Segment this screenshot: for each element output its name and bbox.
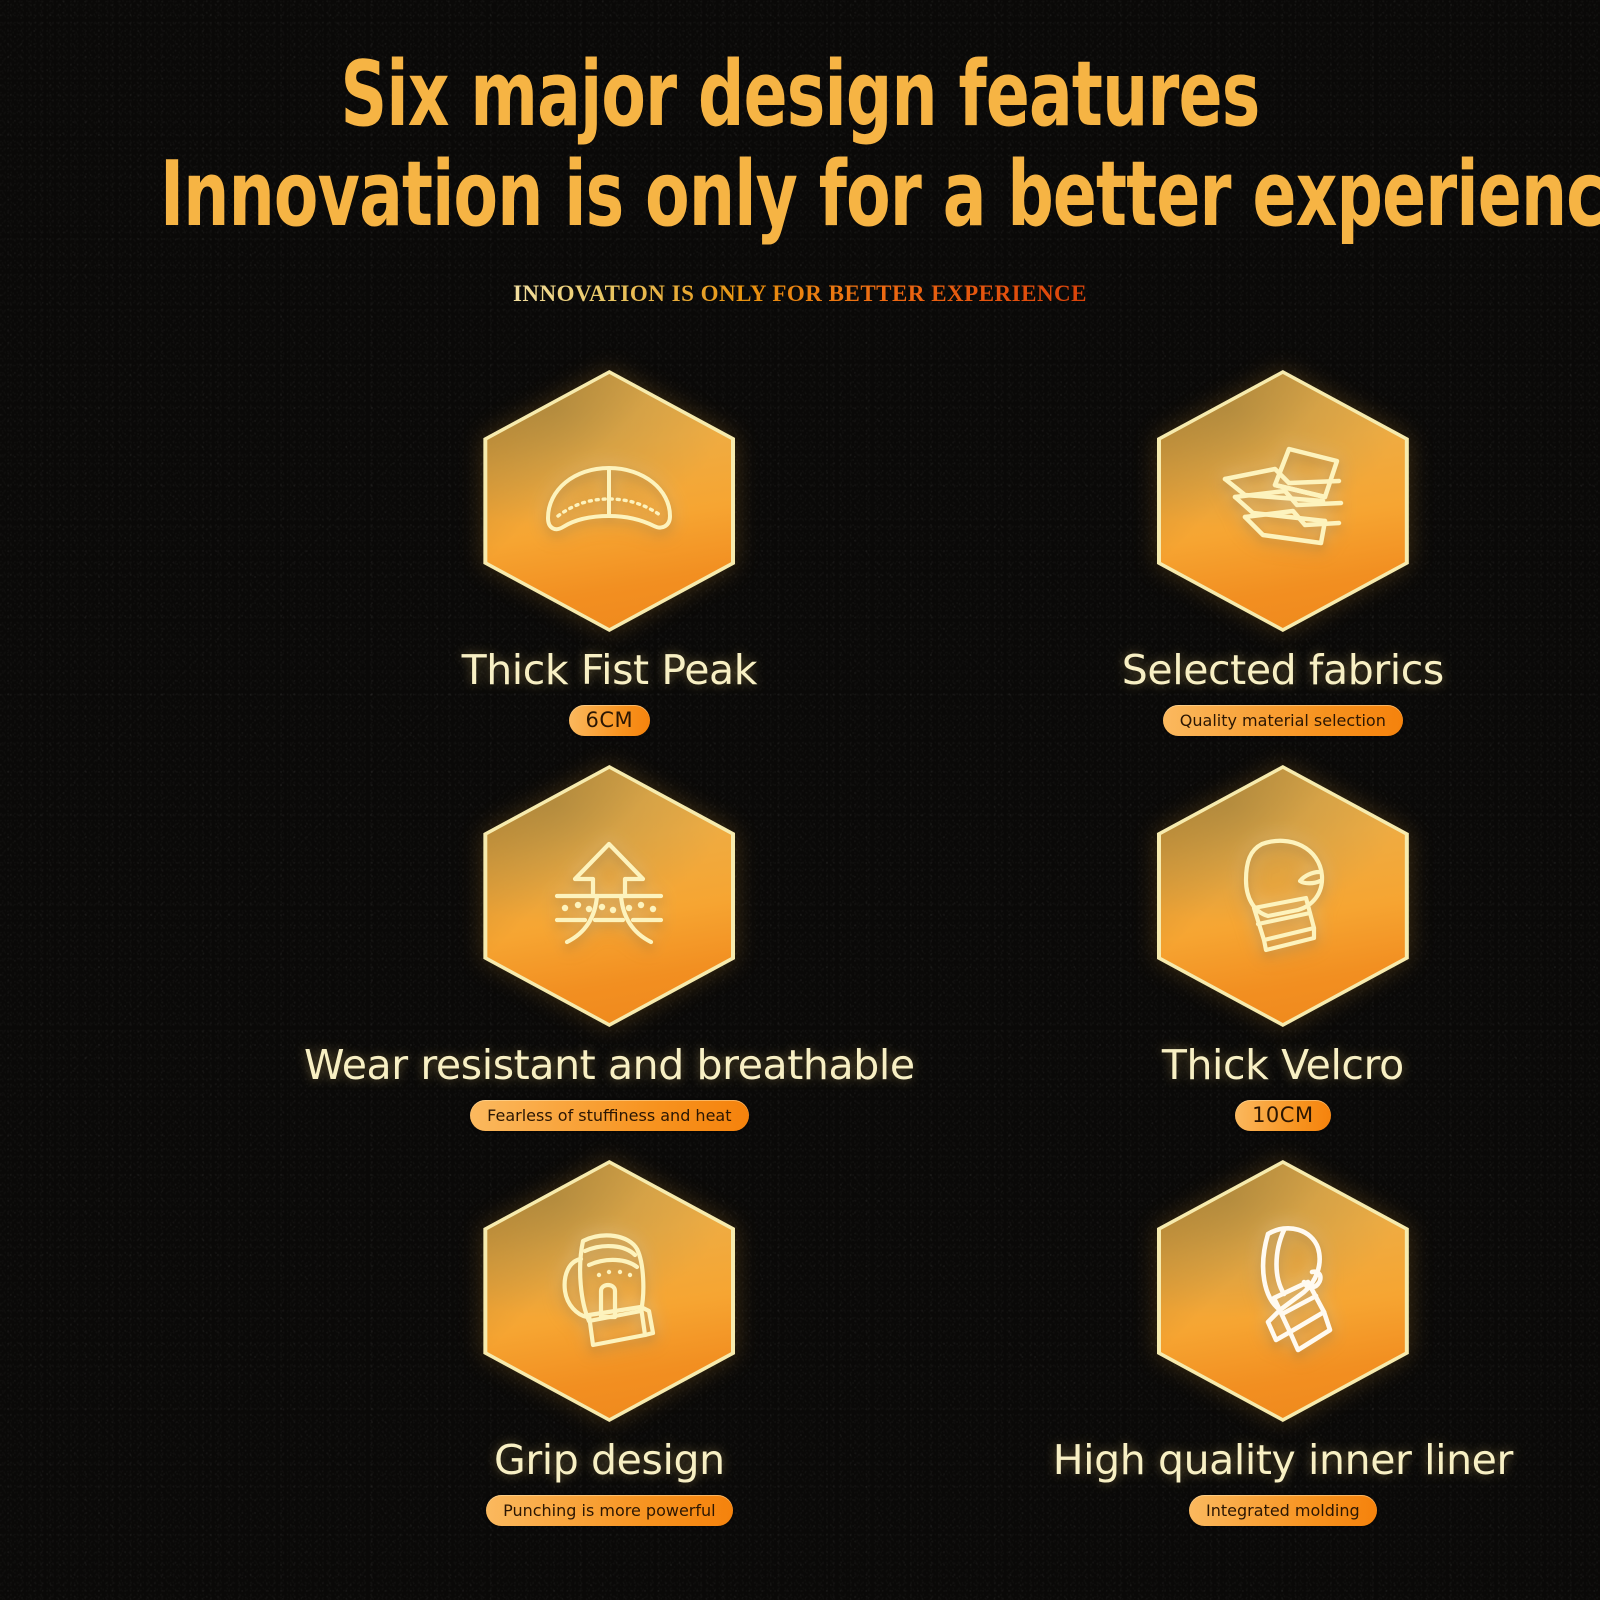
feature-card-grip-design[interactable]: Grip design Punching is more powerful: [300, 1160, 915, 1555]
hexagon-badge: [483, 765, 735, 1027]
hexagon-badge: [1157, 370, 1409, 632]
feature-label: Thick Velcro: [1162, 1045, 1404, 1086]
feature-card-high-quality-inner-liner[interactable]: High quality inner liner Integrated mold…: [915, 1160, 1513, 1555]
hexagon-badge: [483, 370, 735, 632]
feature-badge: 6CM: [569, 705, 651, 736]
breathable-airflow-arrow-icon: [483, 765, 735, 1027]
feature-card-thick-fist-peak[interactable]: Thick Fist Peak 6CM: [300, 370, 915, 765]
feature-card-wear-resistant-breathable[interactable]: Wear resistant and breathable Fearless o…: [300, 765, 915, 1160]
feature-grid: Thick Fist Peak 6CM: [300, 370, 1300, 1555]
feature-badge: 10CM: [1235, 1100, 1331, 1131]
hexagon-badge: [1157, 1160, 1409, 1422]
fist-peak-padding-icon: [483, 370, 735, 632]
boxing-glove-grip-icon: [483, 1160, 735, 1422]
page-subtitle: INNOVATION IS ONLY FOR BETTER EXPERIENCE: [513, 281, 1087, 307]
feature-badge: Quality material selection: [1163, 705, 1403, 736]
feature-label: Thick Fist Peak: [462, 650, 758, 691]
feature-label: Grip design: [494, 1440, 725, 1481]
feature-badge: Punching is more powerful: [486, 1495, 732, 1526]
feature-label: Selected fabrics: [1122, 650, 1444, 691]
page-title-line-1: Six major design features: [160, 0, 1440, 138]
boxing-glove-velcro-icon: [1157, 765, 1409, 1027]
page-header: Six major design features Innovation is …: [0, 0, 1600, 307]
promo-page: Six major design features Innovation is …: [0, 0, 1600, 1600]
feature-badge: Fearless of stuffiness and heat: [470, 1100, 748, 1131]
feature-label: Wear resistant and breathable: [304, 1045, 915, 1086]
boxing-glove-inner-liner-icon: [1157, 1160, 1409, 1422]
feature-label: High quality inner liner: [1053, 1440, 1513, 1481]
feature-card-selected-fabrics[interactable]: Selected fabrics Quality material select…: [915, 370, 1513, 765]
hexagon-badge: [1157, 765, 1409, 1027]
stacked-fabric-layers-icon: [1157, 370, 1409, 632]
hexagon-badge: [483, 1160, 735, 1422]
page-title-line-2: Innovation is only for a better experien…: [160, 138, 1440, 238]
feature-badge: Integrated molding: [1189, 1495, 1377, 1526]
feature-card-thick-velcro[interactable]: Thick Velcro 10CM: [915, 765, 1513, 1160]
